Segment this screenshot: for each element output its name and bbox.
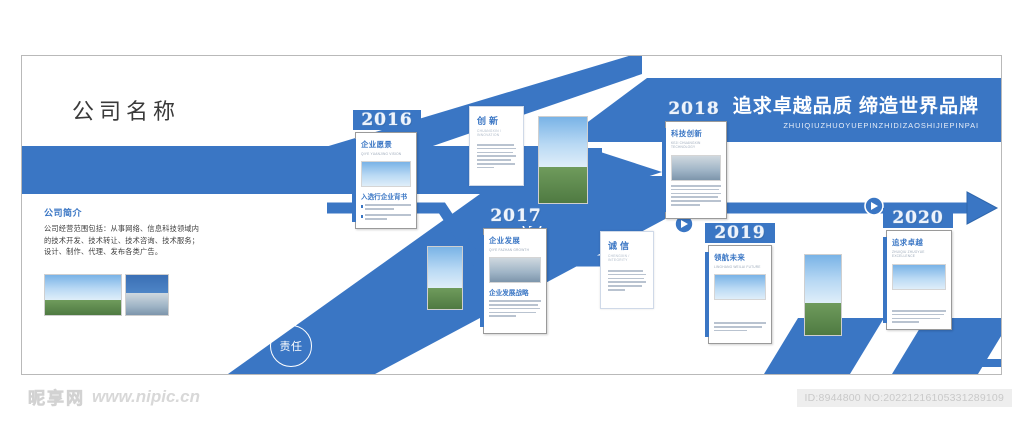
card-pinyin: QIYE YUANJING VISION <box>361 152 411 157</box>
card-pinyin: KEJI CHUANGXIN TECHNOLOGY <box>671 141 721 151</box>
card-section-title: 企业发展战略 <box>489 287 541 297</box>
poster-artboard: 追求卓越品质 缔造世界品牌 ZHUIQIUZHUOYUEPINZHIDIZAOS… <box>21 55 1002 375</box>
year-label-2018: 2018 <box>659 99 729 119</box>
card-pinyin: ZHUIQIU ZHUOYUE EXCELLENCE <box>892 250 946 260</box>
timeline-node-3 <box>865 197 883 215</box>
card-pinyin: QIYE FAZHAN GROWTH <box>489 248 541 253</box>
card-title: 企业愿景 <box>361 139 411 150</box>
card-title: 领航未来 <box>714 252 766 263</box>
card-body-lines <box>714 322 766 331</box>
artboard-content: 追求卓越品质 缔造世界品牌 ZHUIQIUZHUOYUEPINZHIDIZAOS… <box>22 56 1001 374</box>
card-image <box>714 274 766 300</box>
watermark-logo-text: 昵享网 <box>28 384 85 409</box>
card-title: 追求卓越 <box>892 237 946 248</box>
card-section-title: 入选行企业背书 <box>361 191 411 201</box>
decorative-photo-tower <box>427 246 463 310</box>
image-id-tag: ID:8944800 NO:20221216105331289109 <box>797 389 1012 407</box>
decorative-photo-coast <box>538 116 588 204</box>
card-image <box>892 264 946 290</box>
card-title: 科技创新 <box>671 128 721 139</box>
card-title: 企业发展 <box>489 235 541 246</box>
milestone-card-2016[interactable]: 企业愿景 QIYE YUANJING VISION 入选行企业背书 <box>355 132 417 229</box>
year-label-2020: 2020 <box>883 208 953 228</box>
watermark-url: www.nipic.cn <box>92 387 200 407</box>
card-body-lines <box>489 300 541 317</box>
site-watermark: 昵享网 www.nipic.cn <box>28 384 200 409</box>
card-body-lines <box>671 185 721 206</box>
card-body-lines <box>361 204 411 222</box>
value-card-title: 创新 <box>477 114 516 127</box>
year-label-2019: 2019 <box>705 223 775 243</box>
milestone-card-2018[interactable]: 科技创新 KEJI CHUANGXIN TECHNOLOGY <box>665 121 727 219</box>
card-image <box>671 155 721 181</box>
value-card-pinyin: CHUANGXIN / INNOVATION <box>477 129 516 137</box>
year-label-2016: 2016 <box>353 110 421 130</box>
value-card-body <box>477 144 516 168</box>
card-pinyin: LINGHANG WEILAI FUTURE <box>714 265 766 270</box>
milestone-card-2020[interactable]: 追求卓越 ZHUIQIU ZHUOYUE EXCELLENCE <box>886 230 952 330</box>
card-image <box>361 161 411 187</box>
card-body-lines <box>892 310 946 323</box>
decorative-photo-palm <box>804 254 842 336</box>
card-image <box>489 257 541 283</box>
value-card-integrity[interactable]: 诚信 CHENGXIN / INTEGRITY <box>600 231 654 309</box>
milestone-card-2017[interactable]: 企业发展 QIYE FAZHAN GROWTH 企业发展战略 <box>483 228 547 334</box>
value-card-title: 诚信 <box>608 239 646 252</box>
value-card-body <box>608 270 646 291</box>
milestone-card-2019[interactable]: 领航未来 LINGHANG WEILAI FUTURE <box>708 245 772 344</box>
value-card-innovation[interactable]: 创新 CHUANGXIN / INNOVATION <box>469 106 524 186</box>
value-card-pinyin: CHENGXIN / INTEGRITY <box>608 254 646 262</box>
screenshot-root: 追求卓越品质 缔造世界品牌 ZHUIQIUZHUOYUEPINZHIDIZAOS… <box>0 0 1024 421</box>
year-label-2017: 2017 <box>481 206 551 226</box>
